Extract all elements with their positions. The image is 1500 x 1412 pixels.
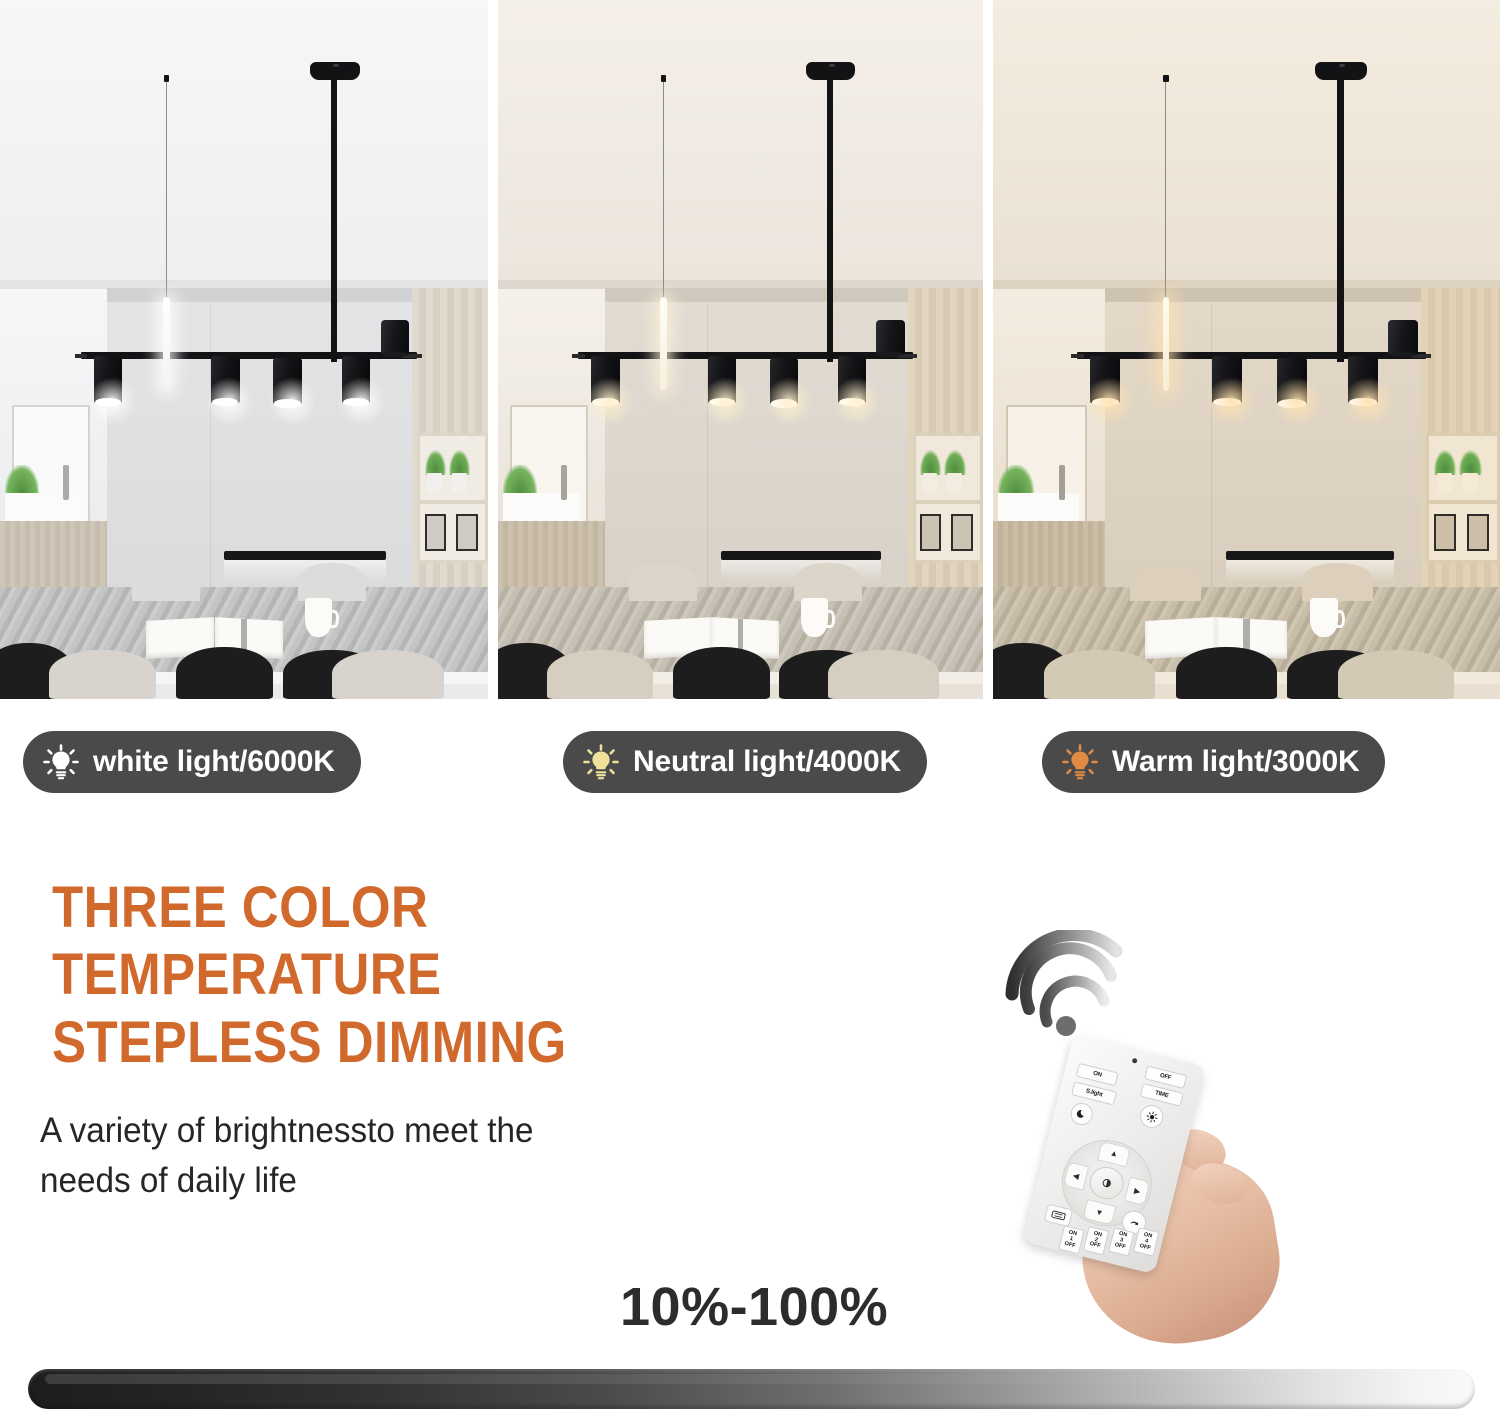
photo-gutter xyxy=(983,0,993,699)
led-tube xyxy=(163,297,169,391)
photo-neutral-light xyxy=(498,0,983,699)
channel-off-label: OFF xyxy=(1089,1242,1101,1250)
remote-key-night-mode[interactable] xyxy=(1069,1101,1095,1127)
spot-head xyxy=(708,356,737,402)
remote-key-left[interactable]: ◀ xyxy=(1063,1162,1089,1191)
remote-channel-3[interactable]: ON 3 OFF xyxy=(1108,1227,1134,1256)
spot-head xyxy=(94,356,123,402)
spot-head-up xyxy=(1388,320,1418,355)
remote-key-down[interactable]: ▼ xyxy=(1083,1199,1117,1226)
badge-neutral-light: Neutral light/4000K xyxy=(563,731,927,793)
remote-channel-1[interactable]: ON 1 OFF xyxy=(1058,1225,1084,1254)
down-rod xyxy=(1337,79,1343,362)
badge-warm-light: Warm light/3000K xyxy=(1042,731,1385,793)
spot-head xyxy=(770,358,799,404)
remote-key-center[interactable] xyxy=(1087,1164,1127,1203)
canopy-detail xyxy=(829,64,834,66)
led-tube xyxy=(1163,297,1169,391)
color-temperature-photo-strip xyxy=(0,0,1500,699)
cross-bar-tip-left xyxy=(75,354,88,358)
spot-head xyxy=(1090,356,1120,402)
badge-label: Neutral light/4000K xyxy=(633,745,901,779)
remote-in-hand: ON OFF S.light TIME xyxy=(1024,1035,1254,1295)
photo-warm-light xyxy=(993,0,1500,699)
spot-head xyxy=(1212,356,1242,402)
dimming-range-label: 10%-100% xyxy=(620,1276,940,1338)
cross-bar-tip-left xyxy=(1071,354,1084,358)
canopy-detail xyxy=(333,64,338,66)
led-tube xyxy=(660,297,666,391)
suspension-wire xyxy=(663,81,664,298)
channel-off-label: OFF xyxy=(1139,1244,1151,1252)
subtext: A variety of brightnessto meet the needs… xyxy=(40,1106,667,1205)
pendant-chandelier xyxy=(0,0,488,699)
headline: THREE COLOR TEMPERATURE STEPLESS DIMMING xyxy=(52,874,826,1076)
remote-key-right[interactable]: ▶ xyxy=(1124,1177,1150,1206)
badge-label: Warm light/3000K xyxy=(1112,745,1359,779)
spot-head xyxy=(591,356,620,402)
bulb-icon xyxy=(41,742,81,782)
spot-head xyxy=(1277,358,1307,404)
spot-head xyxy=(273,358,302,404)
suspension-wire xyxy=(1165,81,1166,298)
photo-gutter xyxy=(488,0,498,699)
headline-line-2: STEPLESS DIMMING xyxy=(52,1009,826,1076)
channel-off-label: OFF xyxy=(1114,1243,1126,1251)
bulb-icon xyxy=(1060,742,1100,782)
ir-led-icon xyxy=(1131,1057,1137,1063)
remote-channel-4[interactable]: ON 4 OFF xyxy=(1133,1228,1159,1257)
badge-label: white light/6000K xyxy=(93,745,335,779)
color-temperature-badges: white light/6000K xyxy=(0,714,1500,810)
down-rod xyxy=(331,79,337,362)
photo-white-light xyxy=(0,0,488,699)
product-feature-page: white light/6000K xyxy=(0,0,1500,1412)
spot-head xyxy=(838,356,867,402)
wifi-signal-icon xyxy=(994,930,1134,1040)
spot-head-up xyxy=(381,320,410,355)
pendant-chandelier xyxy=(993,0,1500,699)
pendant-chandelier xyxy=(498,0,983,699)
subtext-line-2: needs of daily life xyxy=(40,1156,667,1206)
bulb-icon xyxy=(581,742,621,782)
spot-head xyxy=(342,356,371,402)
badge-white-light: white light/6000K xyxy=(23,731,361,793)
remote-key-up[interactable]: ▲ xyxy=(1097,1141,1131,1168)
spot-head xyxy=(211,356,240,402)
remote-key-brightness[interactable] xyxy=(1138,1103,1166,1130)
subtext-line-1: A variety of brightnessto meet the xyxy=(40,1106,667,1156)
channel-off-label: OFF xyxy=(1064,1241,1076,1249)
down-rod xyxy=(827,79,833,362)
remote-channel-2[interactable]: ON 2 OFF xyxy=(1083,1226,1109,1255)
spot-head xyxy=(1348,356,1378,402)
canopy-detail xyxy=(1339,64,1345,66)
headline-line-1: THREE COLOR TEMPERATURE xyxy=(52,874,826,1009)
cross-bar-tip-left xyxy=(572,354,585,358)
suspension-wire xyxy=(166,81,167,298)
dimming-gradient-bar xyxy=(28,1369,1475,1409)
spot-head-up xyxy=(876,320,905,355)
